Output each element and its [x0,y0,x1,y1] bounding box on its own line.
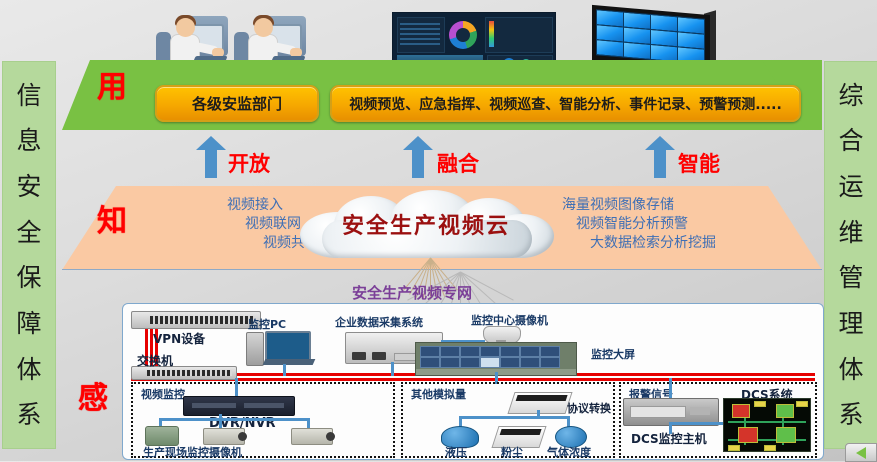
rack-vent [690,407,710,415]
private-network-label: 安全生产视频专网 [352,282,472,303]
arrow-shaft [205,148,217,178]
left-band-char-2: 安 [16,174,41,199]
box-safety-departments[interactable]: 各级安监部门 [155,85,319,122]
cloud-right-item-0: 海量视频图像存储 [562,196,792,215]
server-port [372,352,386,360]
left-band-char-0: 信 [16,83,41,108]
connector-bus [459,416,567,419]
wall-cell [540,346,560,357]
dvr-panel [244,403,284,408]
wall-cell [520,357,540,368]
left-sidebar-information-security: 信 息 安 全 保 障 体 系 [2,61,56,449]
layer-label-use: 用 [97,62,127,106]
video-wall-cell [623,42,651,60]
cloud-capabilities-left: 视频接入 视频联网 视频共享 [153,196,283,253]
right-band-char-6: 体 [838,357,863,382]
vpn-device-image [131,311,261,329]
dashboard-donut-hole [456,28,470,42]
dcs-tag [764,445,776,451]
connector-line [391,362,394,376]
control-room-image [415,342,577,376]
wall-cell [500,357,520,368]
label-gas: 气体浓度 [547,444,591,460]
connector-line [219,414,222,428]
wall-cell [460,357,480,368]
wall-cell [480,357,500,368]
dcs-pipe [728,421,806,423]
right-band-char-5: 理 [838,311,863,336]
diagram-canvas: 信 息 安 全 保 障 体 系 综 合 运 维 管 理 体 系 [0,0,877,461]
dcs-tag [754,401,766,407]
connector-bus [159,418,309,421]
box-platform-functions[interactable]: 视频预览、应急指挥、视频巡查、智能分析、事件记录、预警预测..... [330,85,801,122]
wall-cell [520,346,540,357]
right-band-char-3: 维 [838,220,863,245]
wall-cell [540,357,560,368]
dashboard-row [400,43,440,45]
dashboard-row [400,28,440,30]
wall-cell [480,346,500,357]
layer-label-sense: 感 [78,373,108,417]
converter-face [516,395,567,400]
protocol-converter-image [507,392,572,414]
camera-lens [238,432,247,441]
pc-monitor-image [265,331,311,361]
right-band-char-0: 综 [838,83,863,108]
left-band-char-6: 体 [16,357,41,382]
arrow-fusion-icon [403,136,433,178]
wall-cell [420,357,440,368]
wall-cell [500,346,520,357]
sensor-face [500,429,542,434]
arrow-smart-icon [645,136,675,178]
cloud-right-item-1: 视频智能分析预警 [576,215,792,234]
right-band-char-2: 运 [838,174,863,199]
box-camera-image [291,428,333,445]
video-wall-cell [650,44,678,62]
arrow-shaft [654,148,666,178]
corner-back-arrow-button[interactable] [845,443,877,462]
cloud-title-label: 安全生产视频云 [292,208,560,240]
label-other-analog: 其他模拟量 [411,386,466,402]
left-band-char-7: 系 [16,402,41,427]
person-head [254,18,273,37]
left-band-char-1: 息 [16,128,41,153]
right-sidebar-ops-management: 综 合 运 维 管 理 体 系 [824,61,877,449]
arrow-label-smart: 智能 [678,148,720,178]
label-vpn-device: VPN设备 [153,330,205,347]
dcs-hmi-image [723,398,811,452]
left-band-char-5: 障 [16,311,41,336]
dvr-nvr-image [183,396,295,416]
ptz-camera-image [145,426,179,446]
layer-sense-panel: VPN设备 交换机 监控PC 企业数据采集系统 监控中心摄像机 [122,303,824,460]
label-dust: 粉尘 [501,444,523,460]
connector-line [669,378,672,398]
left-band-char-4: 保 [16,265,41,290]
camera-lens [326,432,335,441]
pc-keyboard-image [263,359,316,365]
label-data-collection: 企业数据采集系统 [335,314,423,330]
box-camera-image [203,428,245,445]
cloud-right-item-2: 大数据检索分析挖掘 [590,234,792,253]
layer-label-know: 知 [97,196,127,240]
dvr-panel [192,403,236,408]
server-port [352,352,366,360]
connector-bus [669,422,727,425]
label-switch: 交换机 [137,352,173,369]
cloud-capabilities-right: 海量视频图像存储 视频智能分析预警 大数据检索分析挖掘 [562,196,792,253]
connector-line [283,364,286,376]
connector-line [537,410,540,418]
device-ports [150,316,255,325]
arrow-open-icon [196,136,226,178]
wall-cell [460,346,480,357]
dcs-unit [776,427,796,443]
wall-cell [420,346,440,357]
dcs-unit [738,427,758,443]
left-band-char-3: 全 [16,220,41,245]
right-band-char-1: 合 [838,128,863,153]
device-ports [147,370,232,377]
cloud-left-item-1: 视频联网 [153,215,301,234]
wall-cell [440,357,460,368]
arrow-label-open: 开放 [228,148,270,178]
video-wall-cell [596,39,624,57]
right-band-char-7: 系 [838,402,863,427]
rack-panel [630,406,686,418]
person-head [176,18,195,37]
label-protocol-convert: 协议转换 [567,400,611,416]
dashboard-colorbar [489,21,494,47]
label-monitor-pc: 监控PC [248,316,286,332]
dashboard-row [400,23,440,25]
dcs-tag [728,445,740,451]
connector-line [235,378,238,396]
wall-cell [440,346,460,357]
label-site-camera: 生产现场监控摄像机 [143,444,242,460]
dcs-unit [776,404,794,418]
left-arrow-icon [856,447,866,459]
label-big-screen: 监控大屏 [591,346,635,362]
label-video-monitor: 视频监控 [141,386,185,402]
dashboard-panel-right [485,17,553,53]
dashboard-row [400,38,440,40]
arrow-shaft [412,148,424,178]
dashboard-row [400,33,440,35]
label-hydraulic: 液压 [445,444,467,460]
cloud-left-item-0: 视频接入 [153,196,283,215]
right-band-char-4: 管 [838,265,863,290]
dcs-tag [796,401,808,407]
pc-tower-image [246,332,264,366]
arrow-label-fusion: 融合 [437,148,479,178]
dcs-unit [732,404,750,418]
